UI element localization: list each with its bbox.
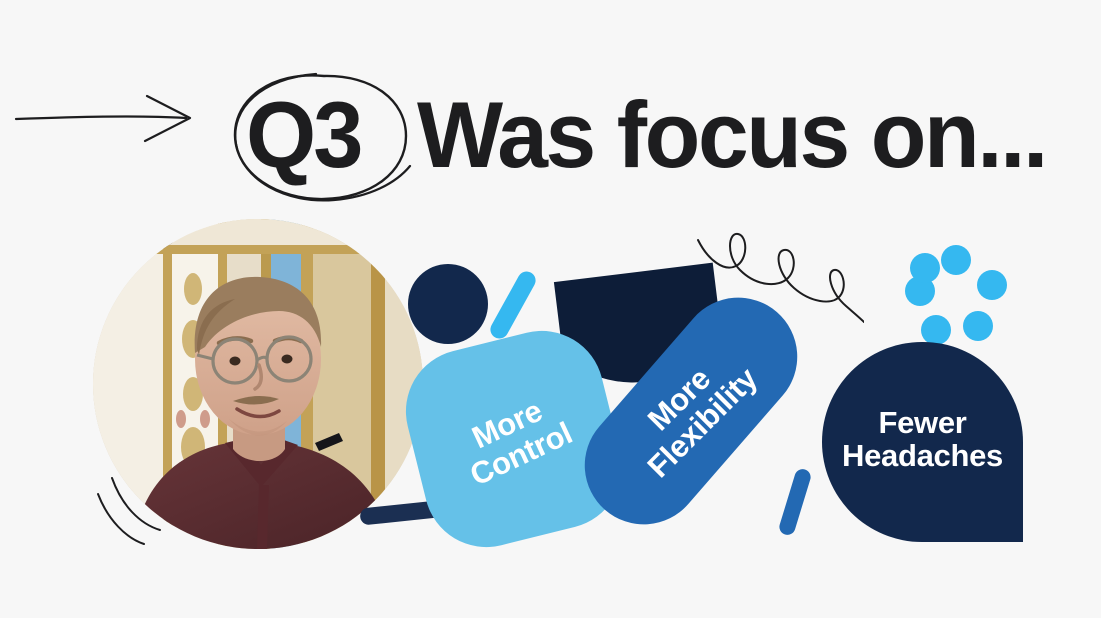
q3-badge: Q3 [228,70,418,200]
q3-label: Q3 [246,75,361,195]
filled-circle-icon [408,264,488,344]
card-fewer-headaches[interactable]: Fewer Headaches [822,342,1023,542]
motion-lines-icon [84,462,214,562]
dot-ring-dot [921,315,951,345]
dot-ring-icon [905,245,1009,349]
dot-ring-dot [941,245,971,275]
card-more-control-label: More Control [451,386,577,492]
slide-canvas: Q3 Was focus on... [0,0,1101,618]
dot-ring-dot [910,253,940,283]
diagonal-dash-icon [777,467,812,537]
dot-ring-dot [977,270,1007,300]
card-fewer-headaches-label: Fewer Headaches [842,406,1003,472]
title-row: Q3 Was focus on... [0,70,1101,200]
dot-ring-dot [963,311,993,341]
card-fewer-headaches-line1: Fewer [878,405,966,440]
long-right-arrow-icon [14,88,204,150]
card-fewer-headaches-line2: Headaches [842,438,1003,473]
page-title: Was focus on... [417,75,1046,195]
